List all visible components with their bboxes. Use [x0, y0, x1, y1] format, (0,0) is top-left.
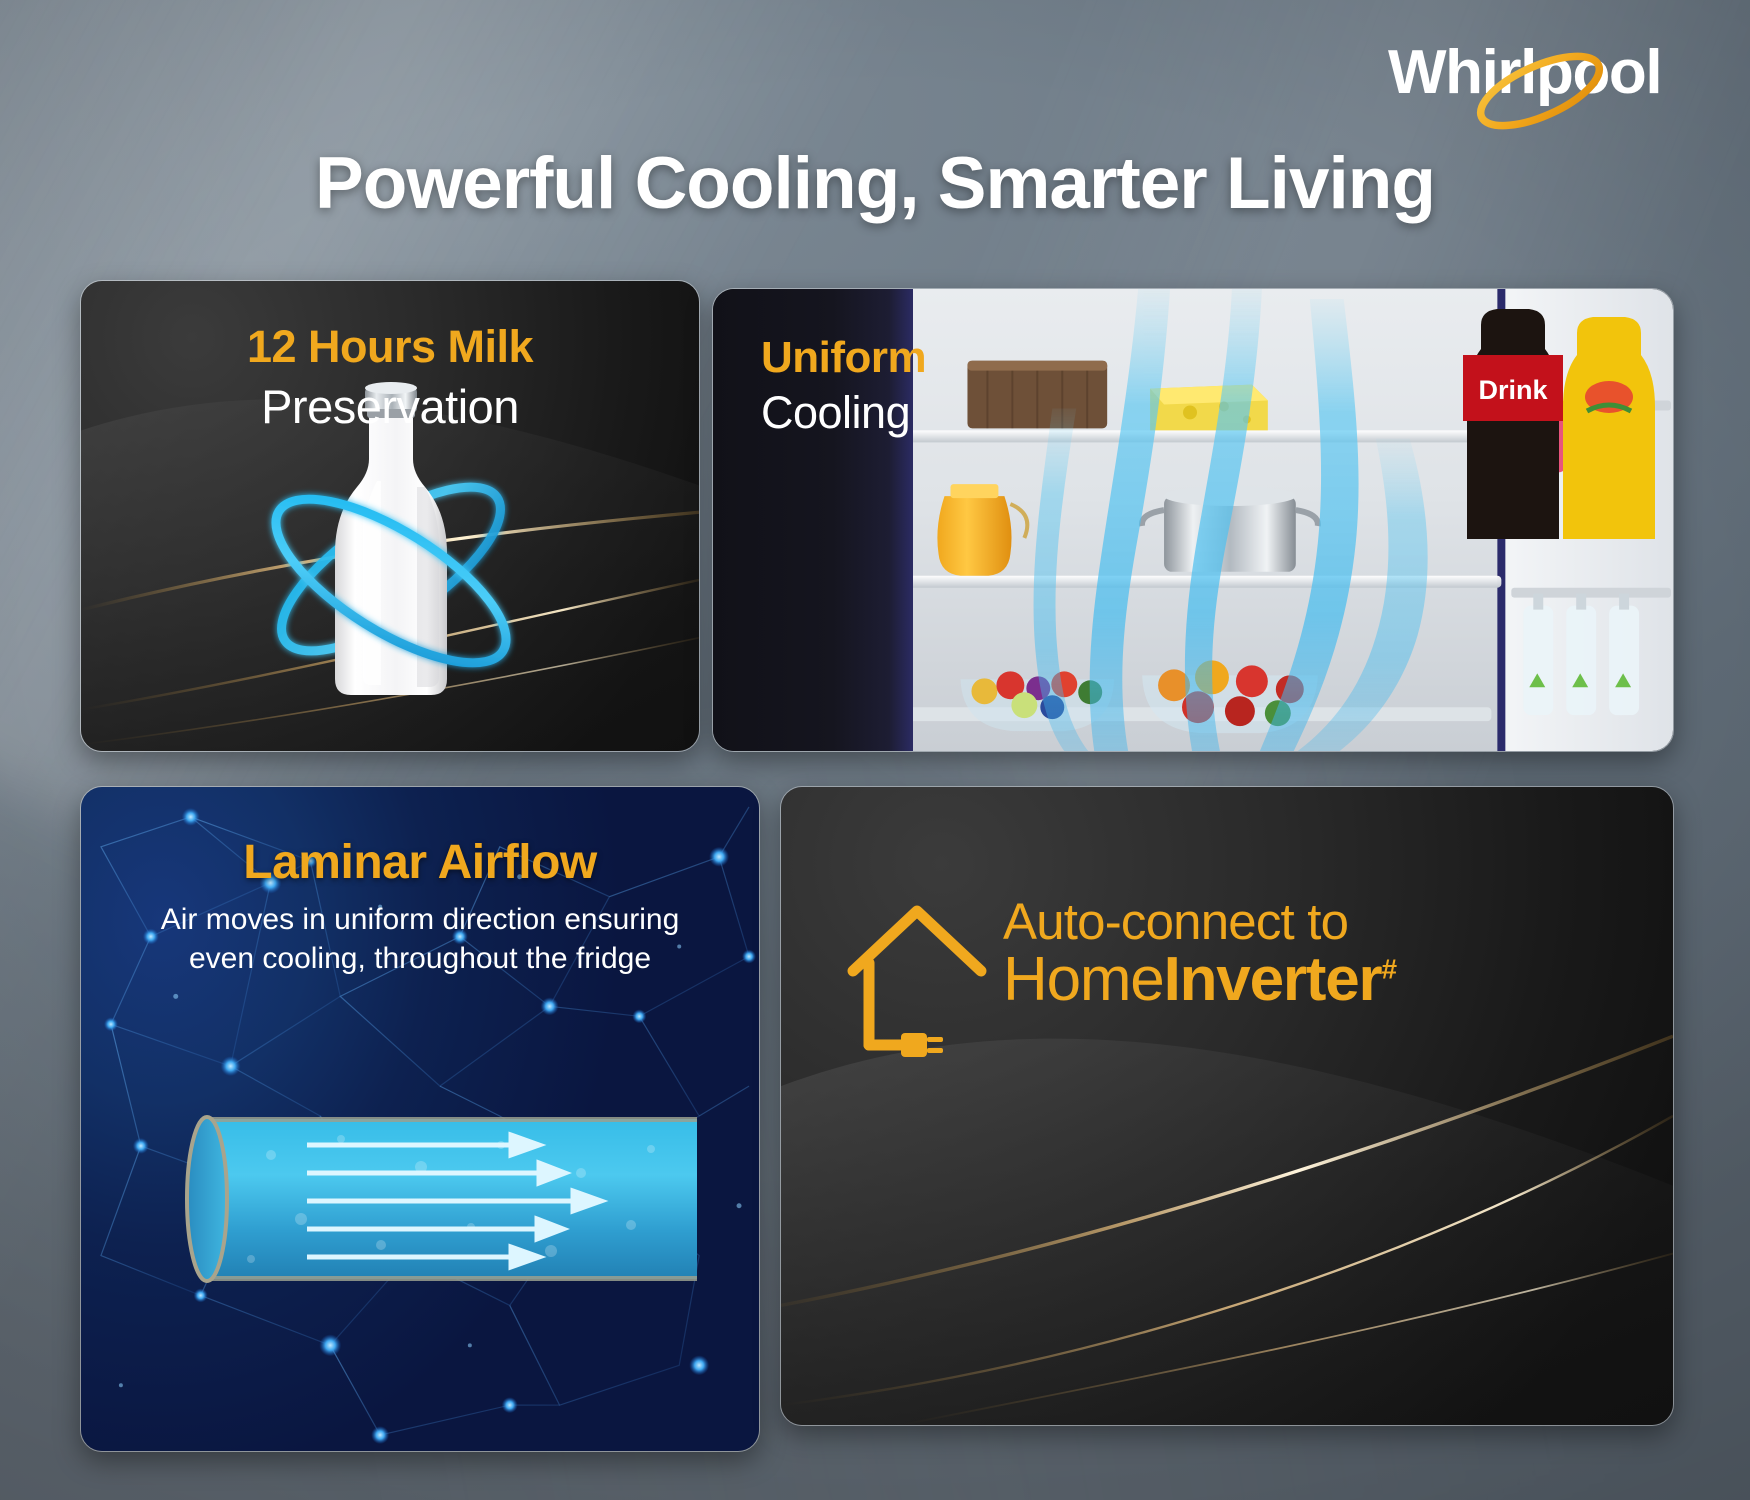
svg-text:Drink: Drink: [1478, 375, 1548, 405]
home-inverter-lockup: Auto-connect to HomeInverter#: [843, 895, 1396, 1065]
milk-title-accent: 12 Hours Milk: [81, 321, 699, 373]
uniform-title-plain: Cooling: [761, 387, 926, 439]
page-title: Powerful Cooling, Smarter Living: [0, 142, 1750, 225]
inverter-word-inverter: Inverter: [1164, 945, 1382, 1014]
inverter-line-2: HomeInverter#: [1003, 948, 1396, 1012]
laminar-body-line-2: even cooling, throughout the fridge: [81, 939, 759, 978]
feature-card-grid: 12 Hours Milk Preservation: [80, 280, 1674, 1452]
uniform-card-heading: Uniform Cooling: [761, 333, 926, 439]
inverter-line-1: Auto-connect to: [1003, 895, 1396, 948]
page-background: Whirlpool Powerful Cooling, Smarter Livi…: [0, 0, 1750, 1500]
laminar-title-accent: Laminar Airflow: [81, 835, 759, 890]
laminar-card-heading: Laminar Airflow Air moves in uniform dir…: [81, 835, 759, 978]
card-home-inverter[interactable]: Auto-connect to HomeInverter#: [780, 786, 1674, 1426]
uniform-title-accent: Uniform: [761, 333, 926, 383]
card-uniform-cooling[interactable]: Drink Uniform Cooling: [712, 288, 1674, 752]
home-inverter-text: Auto-connect to HomeInverter#: [1003, 895, 1396, 1013]
laminar-body-line-1: Air moves in uniform direction ensuring: [81, 900, 759, 939]
card-milk-preservation[interactable]: 12 Hours Milk Preservation: [80, 280, 700, 752]
whirlpool-logo: Whirlpool: [1388, 36, 1698, 128]
gold-swoosh-decoration: [781, 787, 1673, 1425]
milk-card-heading: 12 Hours Milk Preservation: [81, 321, 699, 434]
soft-drink-bottle: Drink: [1437, 289, 1674, 539]
inverter-footnote-marker: #: [1381, 953, 1395, 984]
house-with-plug-icon: [843, 895, 991, 1065]
logo-swoosh-icon: [1388, 36, 1698, 128]
milk-title-plain: Preservation: [81, 379, 699, 434]
airflow-cylinder-illustration: [181, 1109, 701, 1289]
card-laminar-airflow[interactable]: Laminar Airflow Air moves in uniform dir…: [80, 786, 760, 1452]
inverter-word-home: Home: [1003, 945, 1164, 1014]
